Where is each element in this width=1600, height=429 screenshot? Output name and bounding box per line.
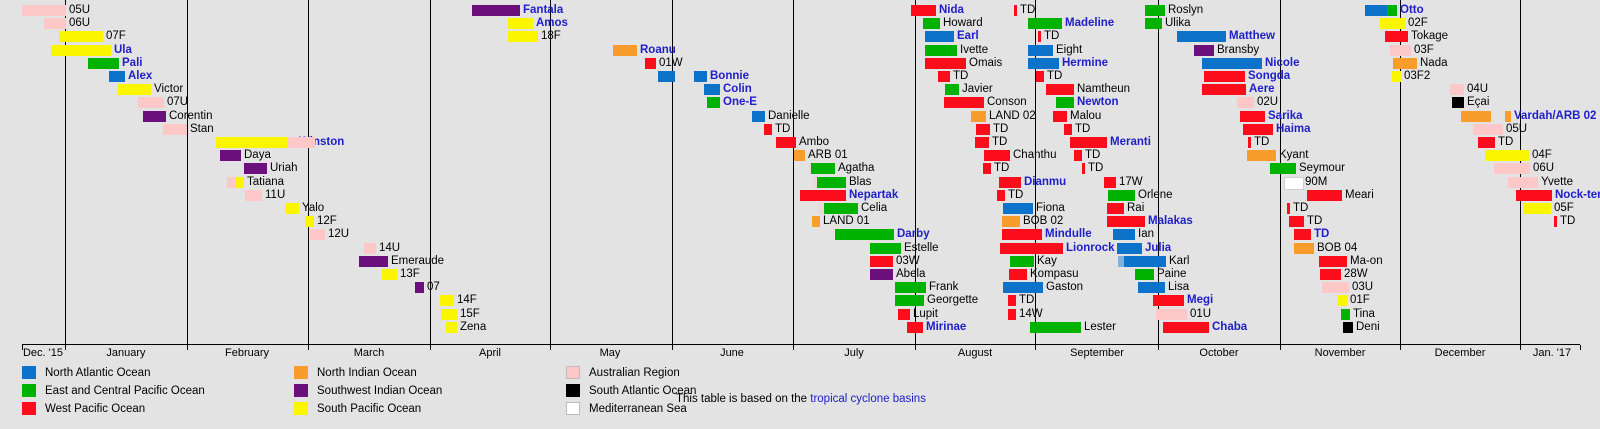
storm-bar (1289, 216, 1304, 227)
storm-label: TD (1498, 136, 1513, 149)
storm-bar (1452, 97, 1464, 108)
storm-bar (1194, 45, 1214, 56)
storm-bar (508, 18, 533, 29)
storm-label: 90M (1305, 176, 1327, 189)
storm-bar (1240, 111, 1265, 122)
storm-label: 03U (1352, 281, 1373, 294)
storm-bar (923, 18, 940, 29)
storm-label: Meari (1345, 189, 1374, 202)
gridline (308, 0, 309, 345)
legend-item: North Indian Ocean (294, 366, 417, 379)
axis-tick (187, 345, 188, 350)
storm-label: TD (1019, 294, 1034, 307)
storm-label: Agatha (838, 162, 874, 175)
storm-bar (895, 295, 924, 306)
legend-label: Southwest Indian Ocean (317, 385, 442, 397)
storm-bar (812, 216, 820, 227)
storm-label: 13F (400, 268, 420, 281)
storm-bar (1074, 150, 1082, 161)
storm-label: Eçai (1467, 96, 1489, 109)
storm-bar (364, 243, 376, 254)
storm-label: Corentin (169, 110, 212, 123)
storm-label: Lisa (1168, 281, 1189, 294)
axis-tick (1035, 345, 1036, 350)
storm-bar (707, 97, 720, 108)
storm-bar (1028, 18, 1062, 29)
month-label: September (1052, 347, 1142, 359)
storm-bar (88, 58, 119, 69)
storm-label: Tina (1353, 308, 1375, 321)
storm-label: TD (1254, 136, 1269, 149)
storm-bar (440, 295, 454, 306)
storm-bar (1036, 71, 1044, 82)
storm-label: Newton (1077, 96, 1119, 109)
month-label: February (202, 347, 292, 359)
storm-bar (1393, 58, 1417, 69)
storm-label: Ian (1138, 228, 1154, 241)
storm-label: Karl (1169, 255, 1189, 268)
axis-tick (430, 345, 431, 350)
storm-bar (870, 243, 901, 254)
storm-label: Malou (1070, 110, 1101, 123)
storm-bar (911, 5, 936, 16)
storm-bar (983, 163, 991, 174)
storm-bar (1082, 163, 1085, 174)
storm-bar (1248, 137, 1251, 148)
storm-label: Julia (1145, 242, 1171, 255)
storm-label: Lester (1084, 321, 1116, 334)
storm-label: Paine (1157, 268, 1186, 281)
storm-label: TD (1293, 202, 1308, 215)
storm-bar (1237, 97, 1254, 108)
storm-label: 06U (1533, 162, 1554, 175)
storm-bar (800, 190, 846, 201)
storm-label: 03F2 (1404, 70, 1430, 83)
storm-bar (163, 124, 187, 135)
storm-label: TD (1044, 30, 1059, 43)
storm-bar (907, 322, 923, 333)
storm-bar (1243, 124, 1273, 135)
axis-tick (1158, 345, 1159, 350)
storm-bar (1002, 216, 1020, 227)
storm-label: TD (1075, 123, 1090, 136)
storm-bar (1010, 256, 1034, 267)
legend-label: East and Central Pacific Ocean (45, 385, 205, 397)
storm-label: TD (993, 123, 1008, 136)
month-label: October (1174, 347, 1264, 359)
storm-bar (138, 97, 164, 108)
storm-bar (472, 5, 520, 16)
storm-bar (645, 58, 656, 69)
storm-bar (1138, 282, 1165, 293)
storm-label: TD (1047, 70, 1062, 83)
gridline (915, 0, 916, 345)
storm-label: Chaba (1212, 321, 1247, 334)
storm-bar (1385, 31, 1408, 42)
storm-label: 06U (69, 17, 90, 30)
storm-label: TD (1008, 189, 1023, 202)
storm-bar (143, 111, 166, 122)
storm-bar (794, 150, 805, 161)
storm-label: Roslyn (1168, 4, 1203, 17)
month-label: June (687, 347, 777, 359)
storm-label: Orlene (1138, 189, 1173, 202)
storm-bar (288, 137, 315, 148)
storm-bar (244, 163, 267, 174)
storm-label: BOB 02 (1023, 215, 1063, 228)
legend-swatch (566, 402, 580, 415)
storm-bar (1046, 84, 1074, 95)
storm-label: 02F (1408, 17, 1428, 30)
storm-bar (1390, 45, 1411, 56)
storm-bar (817, 177, 846, 188)
storm-bar (1343, 322, 1353, 333)
storm-bar (1177, 31, 1226, 42)
storm-bar (895, 282, 926, 293)
month-label: December (1415, 347, 1505, 359)
storm-label: 12F (317, 215, 337, 228)
storm-bar (44, 18, 66, 29)
storm-bar (1008, 309, 1016, 320)
storm-bar (1002, 229, 1042, 240)
storm-bar (811, 163, 835, 174)
storm-bar (1108, 190, 1135, 201)
storm-label: TD (1307, 215, 1322, 228)
storm-label: Blas (849, 176, 871, 189)
storm-bar (971, 111, 986, 122)
storm-bar (216, 137, 296, 148)
storm-label: Yvette (1541, 176, 1573, 189)
storm-label: Frank (929, 281, 958, 294)
storm-bar (1163, 322, 1209, 333)
storm-bar (441, 309, 457, 320)
storm-label: 12U (328, 228, 349, 241)
storm-label: BOB 04 (1317, 242, 1357, 255)
storm-bar (220, 150, 241, 161)
storm-label: 05F (1554, 202, 1574, 215)
storm-bar (1320, 269, 1341, 280)
storm-label: 01W (659, 57, 683, 70)
storm-label: Tokage (1411, 30, 1448, 43)
storm-bar (1014, 5, 1017, 16)
storm-bar (1473, 124, 1503, 135)
storm-bar (1322, 282, 1349, 293)
storm-label: Fantala (523, 4, 563, 17)
storm-label: 03W (896, 255, 920, 268)
storm-bar (285, 203, 299, 214)
month-label: July (809, 347, 899, 359)
storm-bar (1107, 203, 1124, 214)
storm-bar (1341, 309, 1350, 320)
storm-bar (1554, 216, 1557, 227)
axis-tick (672, 345, 673, 350)
storm-label: 14U (379, 242, 400, 255)
storm-label: 04U (1467, 83, 1488, 96)
storm-bar (109, 71, 125, 82)
storm-bar (944, 97, 984, 108)
storm-label: Estelle (904, 242, 939, 255)
storm-label: Otto (1400, 4, 1424, 17)
storm-bar (1461, 111, 1491, 122)
legend-swatch (294, 366, 308, 379)
storm-label: LAND 01 (823, 215, 870, 228)
storm-bar (1247, 150, 1276, 161)
storm-bar (945, 84, 959, 95)
legend-item: South Pacific Ocean (294, 402, 421, 415)
axis-tick (1280, 345, 1281, 350)
storm-label: Daya (244, 149, 271, 162)
storm-bar (415, 282, 424, 293)
storm-bar (118, 84, 151, 95)
storm-label: Kyant (1279, 149, 1308, 162)
storm-label: Celia (861, 202, 887, 215)
storm-label: Vardah/ARB 02 (1514, 110, 1596, 123)
storm-label: 15F (460, 308, 480, 321)
storm-bar (22, 5, 66, 16)
storm-label: Malakas (1148, 215, 1193, 228)
storm-label: Rai (1127, 202, 1144, 215)
x-axis-line (22, 344, 1580, 345)
storm-label: ARB 01 (808, 149, 848, 162)
storm-bar (51, 45, 111, 56)
storm-bar (1287, 203, 1290, 214)
storm-bar (984, 150, 1010, 161)
storm-bar (1104, 177, 1116, 188)
storm-label: 14W (1019, 308, 1043, 321)
storm-label: 07F (106, 30, 126, 43)
storm-label: TD (1020, 4, 1035, 17)
storm-bar (1478, 137, 1495, 148)
legend-swatch (294, 384, 308, 397)
gridline (550, 0, 551, 345)
storm-bar (1338, 295, 1347, 306)
storm-label: Zena (460, 321, 486, 334)
storm-label: 07 (427, 281, 440, 294)
storm-label: TD (1088, 162, 1103, 175)
storm-bar (1028, 45, 1053, 56)
storm-bar (938, 71, 950, 82)
storm-label: Amos (536, 17, 568, 30)
storm-bar (925, 58, 966, 69)
legend-item: Southwest Indian Ocean (294, 384, 442, 397)
gridline (793, 0, 794, 345)
axis-tick (793, 345, 794, 350)
storm-bar (613, 45, 637, 56)
storm-bar (764, 124, 772, 135)
storm-label: Kay (1037, 255, 1057, 268)
storm-label: Meranti (1110, 136, 1151, 149)
storm-label: Bonnie (710, 70, 749, 83)
storm-bar (1053, 111, 1067, 122)
storm-bar (1307, 190, 1342, 201)
storm-label: Nock-ten (1555, 189, 1600, 202)
storm-label: Earl (957, 30, 979, 43)
storm-label: Kompasu (1030, 268, 1079, 281)
legend-item: Australian Region (566, 366, 680, 379)
storm-label: 04F (1532, 149, 1552, 162)
storm-label: Fiona (1036, 202, 1065, 215)
storm-label: Dianmu (1024, 176, 1066, 189)
storm-label: Haima (1276, 123, 1311, 136)
storm-bar (1153, 295, 1184, 306)
storm-bar (59, 31, 103, 42)
legend-item: East and Central Pacific Ocean (22, 384, 205, 397)
storm-label: 02U (1257, 96, 1278, 109)
storm-label: Georgette (927, 294, 978, 307)
storm-bar (1113, 229, 1135, 240)
storm-bar (1485, 150, 1529, 161)
storm-bar (245, 190, 262, 201)
storm-bar (1380, 18, 1405, 29)
storm-bar (382, 269, 397, 280)
storm-label: Bransby (1217, 44, 1259, 57)
storm-bar (1392, 71, 1401, 82)
storm-bar (1003, 203, 1033, 214)
storm-bar (1294, 243, 1314, 254)
storm-label: Mindulle (1045, 228, 1092, 241)
storm-bar (1494, 163, 1530, 174)
storm-bar (1070, 137, 1107, 148)
storm-bar (1145, 18, 1162, 29)
storm-label: Nicole (1265, 57, 1300, 70)
storm-label: 07U (167, 96, 188, 109)
storm-bar (1145, 5, 1165, 16)
axis-tick (1400, 345, 1401, 350)
storm-label: 28W (1344, 268, 1368, 281)
storm-label: Alex (128, 70, 152, 83)
storm-label: Ma-on (1350, 255, 1383, 268)
storm-label: Lupit (913, 308, 938, 321)
storm-bar (1064, 124, 1072, 135)
month-label: April (445, 347, 535, 359)
storm-label: Deni (1356, 321, 1380, 334)
axis-tick (915, 345, 916, 350)
storm-bar (704, 84, 720, 95)
storm-label: Nepartak (849, 189, 898, 202)
storm-bar (999, 177, 1021, 188)
storm-bar (1135, 269, 1154, 280)
storm-bar (1038, 31, 1041, 42)
storm-label: 18F (541, 30, 561, 43)
storm-bar (1202, 84, 1246, 95)
storm-label: Ambo (799, 136, 829, 149)
storm-label: Eight (1056, 44, 1082, 57)
storm-label: 05U (69, 4, 90, 17)
legend-item: North Atlantic Ocean (22, 366, 150, 379)
storm-bar (976, 124, 990, 135)
storm-bar (870, 269, 893, 280)
storm-label: Nida (939, 4, 964, 17)
storm-bar (1056, 97, 1074, 108)
storm-label: Emeraude (391, 255, 444, 268)
storm-label: Javier (962, 83, 993, 96)
storm-label: TD (1560, 215, 1575, 228)
storm-label: 17W (1119, 176, 1143, 189)
month-label: Jan. '17 (1507, 347, 1597, 359)
storm-bar (1124, 256, 1166, 267)
storm-label: Nada (1420, 57, 1448, 70)
storm-label: Pali (122, 57, 142, 70)
storm-bar (1008, 295, 1016, 306)
legend-swatch (22, 402, 36, 415)
legend-item: Mediterranean Sea (566, 402, 687, 415)
storm-bar (1000, 243, 1063, 254)
storm-bar (1156, 309, 1187, 320)
tropical-cyclone-basins-link[interactable]: tropical cyclone basins (810, 393, 926, 405)
storm-label: Darby (897, 228, 930, 241)
storm-label: Danielle (768, 110, 810, 123)
axis-tick (550, 345, 551, 350)
storm-label: Ulika (1165, 17, 1191, 30)
storm-label: TD (775, 123, 790, 136)
storm-label: Chanthu (1013, 149, 1056, 162)
storm-bar (1523, 203, 1551, 214)
storm-bar (1028, 58, 1059, 69)
storm-label: Uriah (270, 162, 297, 175)
storm-label: TD (1314, 228, 1329, 241)
storm-label: Sarika (1268, 110, 1303, 123)
storm-label: TD (994, 162, 1009, 175)
month-label: May (565, 347, 655, 359)
storm-bar (694, 71, 707, 82)
legend-label: South Pacific Ocean (317, 403, 421, 415)
storm-bar (824, 203, 858, 214)
storm-label: Megi (1187, 294, 1213, 307)
storm-label: 03F (1414, 44, 1434, 57)
storm-label: Abela (896, 268, 925, 281)
storm-bar (1009, 269, 1027, 280)
gridline (187, 0, 188, 345)
storm-bar (1516, 190, 1552, 201)
storm-bar (359, 256, 388, 267)
legend-label: North Indian Ocean (317, 367, 417, 379)
storm-label: Stan (190, 123, 214, 136)
storm-bar (870, 256, 893, 267)
storm-label: 11U (265, 189, 285, 202)
month-label: March (324, 347, 414, 359)
storm-bar (1270, 163, 1296, 174)
legend-label: West Pacific Ocean (45, 403, 145, 415)
month-label: January (81, 347, 171, 359)
storm-label: Colin (723, 83, 752, 96)
storm-bar (1450, 84, 1464, 95)
legend-label: Mediterranean Sea (589, 403, 687, 415)
storm-bar (1284, 177, 1304, 190)
storm-label: Victor (154, 83, 183, 96)
storm-bar (1505, 111, 1511, 122)
storm-bar (925, 45, 957, 56)
storm-bar (997, 190, 1005, 201)
storm-bar (1204, 71, 1245, 82)
month-label: Dec. '15 (0, 347, 88, 359)
timeline-chart: 05U06U07FUlaPaliAlexVictor07UCorentinSta… (0, 0, 1600, 345)
storm-bar (658, 71, 675, 82)
storm-label: Howard (943, 17, 983, 30)
storm-label: 05U (1506, 123, 1527, 136)
storm-bar (508, 31, 538, 42)
storm-label: Gaston (1046, 281, 1083, 294)
month-label: August (930, 347, 1020, 359)
footnote: This table is based on the tropical cycl… (676, 393, 926, 405)
storm-bar (925, 31, 954, 42)
storm-label: Mirinae (926, 321, 966, 334)
storm-bar (310, 229, 325, 240)
storm-label: 01F (1350, 294, 1370, 307)
storm-bar (1508, 177, 1538, 188)
storm-label: Seymour (1299, 162, 1345, 175)
storm-bar (975, 137, 989, 148)
storm-bar (1107, 216, 1145, 227)
